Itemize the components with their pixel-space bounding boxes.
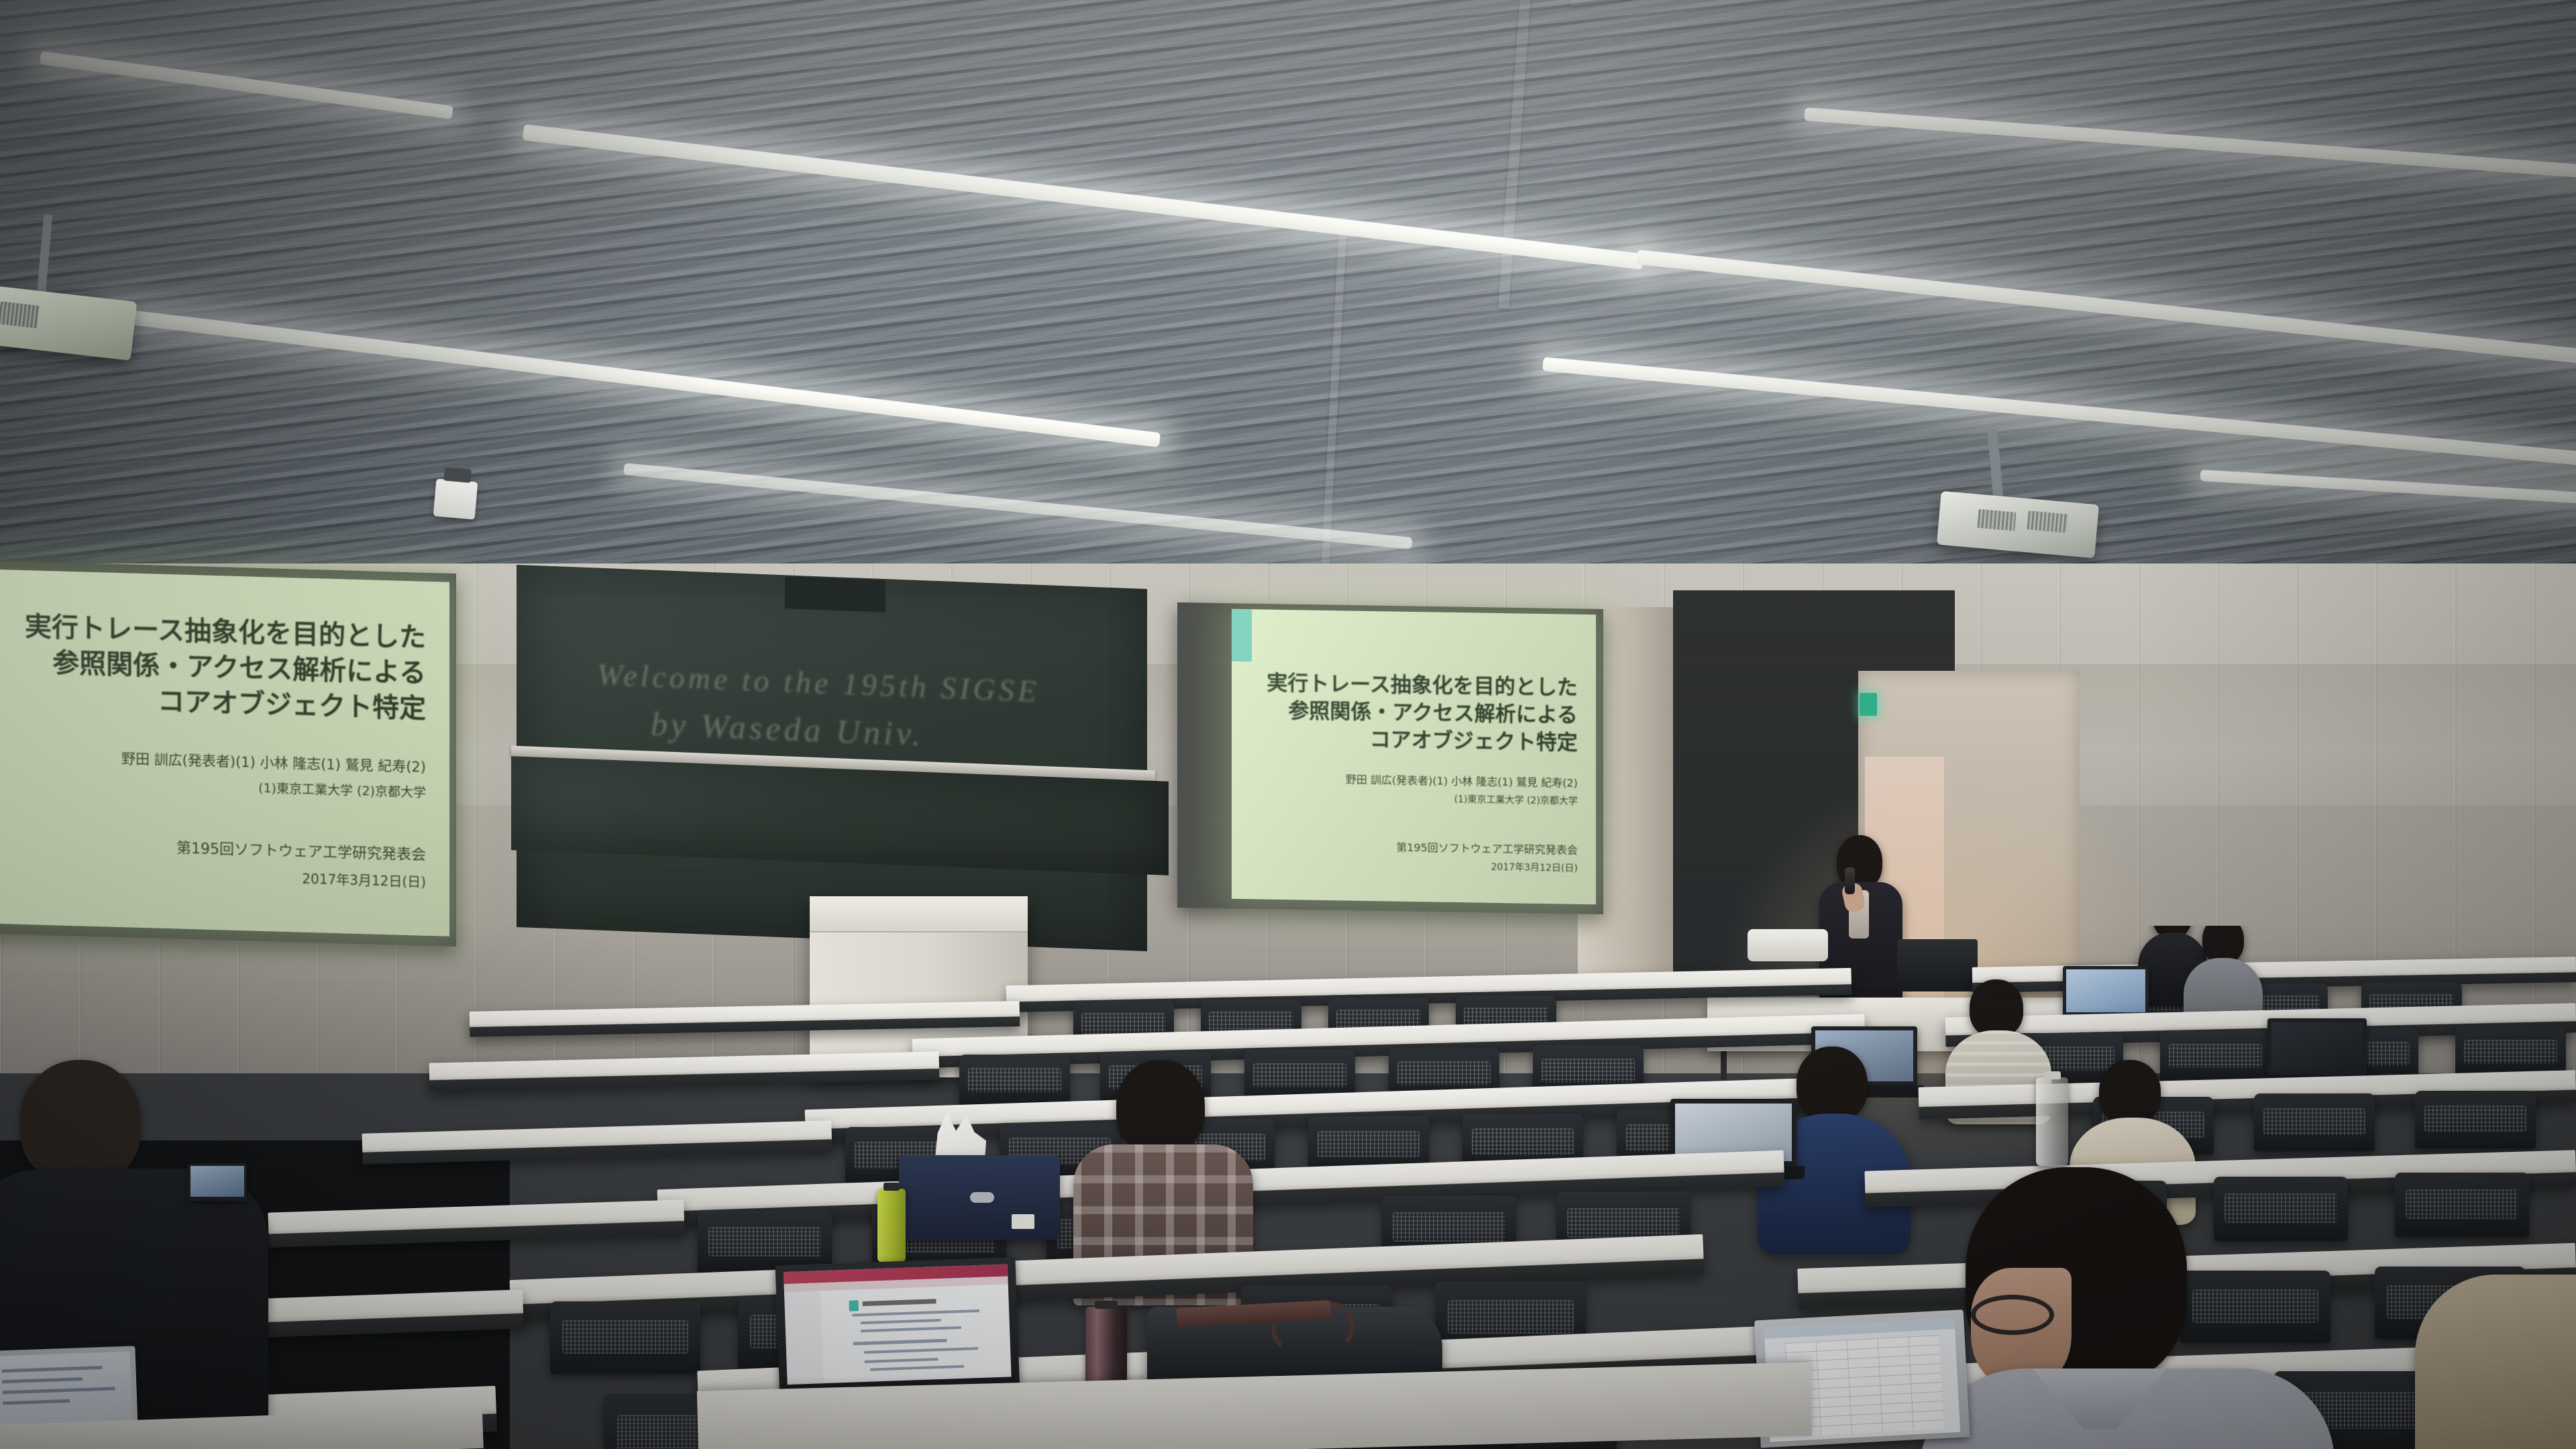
- blackboard-chalk-line-1: Welcome to the 195th SIGSE: [597, 657, 1040, 709]
- laptop-left-small-screen: [191, 1166, 244, 1197]
- attendee-plaid-head: [1116, 1060, 1205, 1154]
- left-slide-date: 2017年3月12日(日): [302, 868, 426, 891]
- attendee-left-head: [20, 1060, 141, 1184]
- right-slide-title: 実行トレース抽象化を目的とした 参照関係・アクセス解析による コアオブジェクト特…: [1267, 670, 1577, 757]
- attendee-blue-head: [1796, 1046, 1868, 1122]
- left-slide-affiliations: (1)東京工業大学 (2)京都大学: [258, 778, 426, 801]
- left-projector-vent: [0, 301, 40, 328]
- laptop-center-doc-line-6: [865, 1358, 938, 1363]
- chair-r3-h: [2254, 1093, 2375, 1151]
- chair-r5-a: [550, 1301, 700, 1374]
- exit-sign-icon: [1860, 693, 1877, 716]
- chair-mesh: [2406, 1189, 2518, 1219]
- laptop-center-lid: [775, 1257, 1020, 1394]
- right-slide-affiliations: (1)東京工業大学 (2)京都大学: [1454, 792, 1578, 808]
- right-slide-title-line-1: 実行トレース抽象化を目的とした: [1267, 670, 1577, 702]
- left-slide-authors: 野田 訓広(発表者)(1) 小林 隆志(1) 鷲見 紀寿(2): [121, 749, 426, 778]
- laptop-left-edge-line-2: [2, 1377, 83, 1383]
- bottle-right: [2036, 1077, 2068, 1166]
- chair-mesh: [708, 1227, 821, 1256]
- left-slide-venue: 第195回ソフトウェア工学研究発表会: [176, 836, 426, 864]
- microphone-icon: [1845, 867, 1855, 894]
- blackboard-upper-inset: [785, 576, 885, 612]
- laptop-center-doc-heading: [863, 1299, 936, 1306]
- desk-row-3-left: [362, 1120, 832, 1165]
- chair-mesh: [1393, 1212, 1505, 1242]
- chair-mesh: [1472, 1128, 1573, 1155]
- laptop-left-edge-line-1: [1, 1366, 102, 1373]
- laptop-right-rear-screen: [2066, 969, 2145, 1012]
- right-slide-date: 2017年3月12日(日): [1491, 860, 1578, 875]
- chair-mesh: [2424, 1106, 2526, 1132]
- attendee-knit-head: [1970, 979, 2023, 1037]
- laptop-center-doc-line-4: [853, 1339, 947, 1346]
- desk-row-1-left: [470, 1001, 1020, 1037]
- left-slide-title: 実行トレース抽象化を目的とした 参照関係・アクセス解析による コアオブジェクト特…: [25, 609, 426, 727]
- chair-mesh: [1397, 1061, 1491, 1085]
- ceiling-shading: [0, 0, 2576, 604]
- laptop-center-doc-line-2: [861, 1319, 941, 1324]
- right-screen-slide: 実行トレース抽象化を目的とした 参照関係・アクセス解析による コアオブジェクト特…: [1232, 609, 1596, 905]
- desk-row-2-left: [429, 1051, 940, 1091]
- attendee-bottom-right-body: [2415, 1275, 2576, 1449]
- laptop-center-doc-line-5: [864, 1347, 978, 1354]
- right-slide-title-line-2: 参照関係・アクセス解析による: [1267, 697, 1577, 729]
- laptop-left-small: [188, 1163, 248, 1206]
- chair-mesh: [2263, 1108, 2365, 1135]
- chair-mesh: [1448, 1300, 1574, 1334]
- bottle-green: [877, 1189, 906, 1263]
- laptop-far-right-screen: [2271, 1022, 2363, 1071]
- right-slide-venue: 第195回ソフトウェア工学研究発表会: [1396, 839, 1578, 857]
- right-projector-vent-2: [2027, 511, 2068, 533]
- chair-mesh: [1567, 1208, 1680, 1238]
- laptop-center-screen: [784, 1264, 1012, 1385]
- chair-mesh: [1081, 1013, 1166, 1034]
- ceiling: [0, 0, 2576, 604]
- laptop-center-doc-line-3: [861, 1326, 961, 1332]
- chair-mesh: [2464, 1040, 2557, 1064]
- attendee-plaid: [1073, 1060, 1254, 1281]
- left-screen-slide: 実行トレース抽象化を目的とした 参照関係・アクセス解析による コアオブジェクト特…: [0, 569, 449, 936]
- laptop-center-doc-line-7: [870, 1365, 964, 1371]
- navy-bag-tag: [1012, 1214, 1034, 1229]
- right-slide-title-line-3: コアオブジェクト特定: [1267, 724, 1577, 757]
- chair-mesh: [1542, 1059, 1635, 1083]
- chair-mesh: [968, 1068, 1061, 1092]
- lecture-hall-scene: Welcome to the 195th SIGSE by Waseda Uni…: [0, 0, 2576, 1449]
- chair-mesh: [1318, 1131, 1419, 1158]
- attendee-bottom-right: [2415, 1275, 2576, 1449]
- bottle-center-cap: [1095, 1301, 1118, 1309]
- laptop-center-doc-accent: [849, 1300, 859, 1311]
- laptop-left-edge-line-4: [3, 1399, 70, 1405]
- laptop-far-right-lid: [2267, 1018, 2367, 1076]
- wall-speaker-mount: [443, 467, 471, 482]
- chair-r4-h: [2395, 1173, 2529, 1237]
- blackboard-chalk-line-2: by Waseda Univ.: [651, 704, 924, 754]
- right-projector-vent-1: [1977, 509, 2016, 531]
- laptop-left-edge-line-3: [3, 1387, 115, 1394]
- chair-mesh: [562, 1320, 688, 1354]
- glasses-icon: [1971, 1295, 2054, 1335]
- presenter-head: [1837, 835, 1882, 889]
- chair-r2-a: [959, 1055, 1070, 1107]
- navy-bag: [899, 1155, 1060, 1240]
- wall-speaker: [433, 478, 478, 519]
- laptop-right-rear-lid: [2063, 966, 2149, 1017]
- bottle-right-cap: [2043, 1071, 2061, 1079]
- laptop-center-doc-line-1: [852, 1309, 979, 1317]
- bottle-green-cap: [883, 1183, 900, 1191]
- right-slide-accent-block: [1232, 609, 1252, 661]
- laptop-center-app-sidebar: [784, 1291, 824, 1385]
- attendee-beige-head: [2099, 1060, 2161, 1124]
- chair-r3-i: [2415, 1091, 2536, 1148]
- chair-mesh: [1253, 1063, 1346, 1087]
- navy-bag-clasp: [970, 1192, 994, 1203]
- right-slide-authors: 野田 訓広(発表者)(1) 小林 隆志(1) 鷲見 紀寿(2): [1346, 771, 1578, 791]
- laptop-left-small-lid: [188, 1163, 247, 1201]
